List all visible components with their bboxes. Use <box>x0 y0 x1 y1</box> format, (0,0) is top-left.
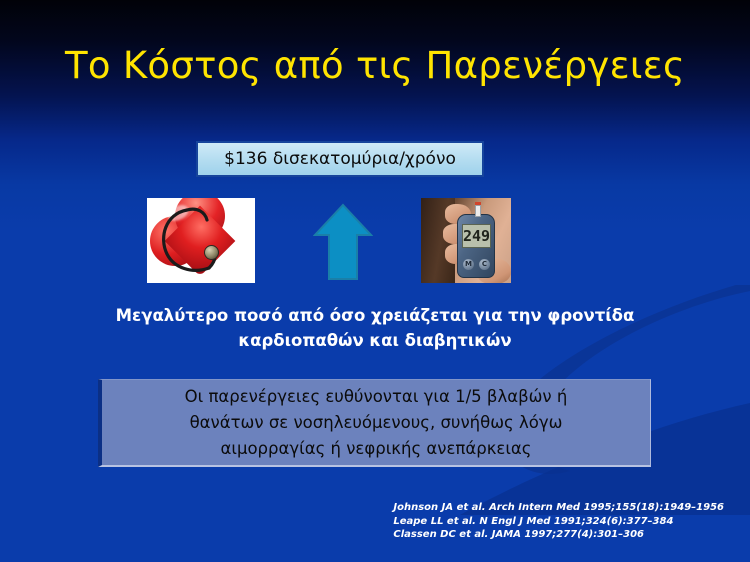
citation-line-1: Johnson JA et al. Arch Intern Med 1995;1… <box>393 501 724 515</box>
callout-line-3: αιμορραγίας ή νεφρικής ανεπάρκειας <box>102 436 650 462</box>
media-row: 249 M C <box>0 198 750 283</box>
stethoscope-tubing-icon <box>147 198 255 283</box>
callout-box: Οι παρενέργειες ευθύνονται για 1/5 βλαβώ… <box>98 379 651 467</box>
citations: Johnson JA et al. Arch Intern Med 1995;1… <box>393 501 724 542</box>
body-text: Μεγαλύτερο ποσό από όσο χρειάζεται για τ… <box>75 303 675 353</box>
presentation-slide: Το Κόστος από τις Παρενέργειες $136 δισε… <box>0 0 750 562</box>
citation-line-2: Leape LL et al. N Engl J Med 1991;324(6)… <box>393 515 724 529</box>
cost-badge: $136 δισεκατομύρια/χρόνο <box>196 141 484 177</box>
glucose-reading-display: 249 <box>462 224 491 248</box>
body-text-line-1: Μεγαλύτερο ποσό από όσο χρειάζεται για τ… <box>75 303 675 328</box>
meter-button-c[interactable]: C <box>479 259 490 270</box>
test-strip <box>475 205 481 217</box>
meter-button-m[interactable]: M <box>463 259 474 270</box>
citation-line-3: Classen DC et al. JAMA 1997;277(4):301–3… <box>393 528 724 542</box>
callout-line-2: θανάτων σε νοσηλευόμενους, συνήθως λόγω <box>102 410 650 436</box>
page-title: Το Κόστος από τις Παρενέργειες <box>0 44 750 88</box>
glucose-meter-device: 249 M C <box>457 214 495 278</box>
up-arrow-icon <box>313 203 373 281</box>
body-text-line-2: καρδιοπαθών και διαβητικών <box>75 328 675 353</box>
heart-with-stethoscope-image <box>147 198 255 283</box>
glucose-meter-image: 249 M C <box>421 198 511 283</box>
stethoscope-chestpiece-icon <box>204 245 219 260</box>
callout-line-1: Οι παρενέργειες ευθύνονται για 1/5 βλαβώ… <box>102 384 650 410</box>
